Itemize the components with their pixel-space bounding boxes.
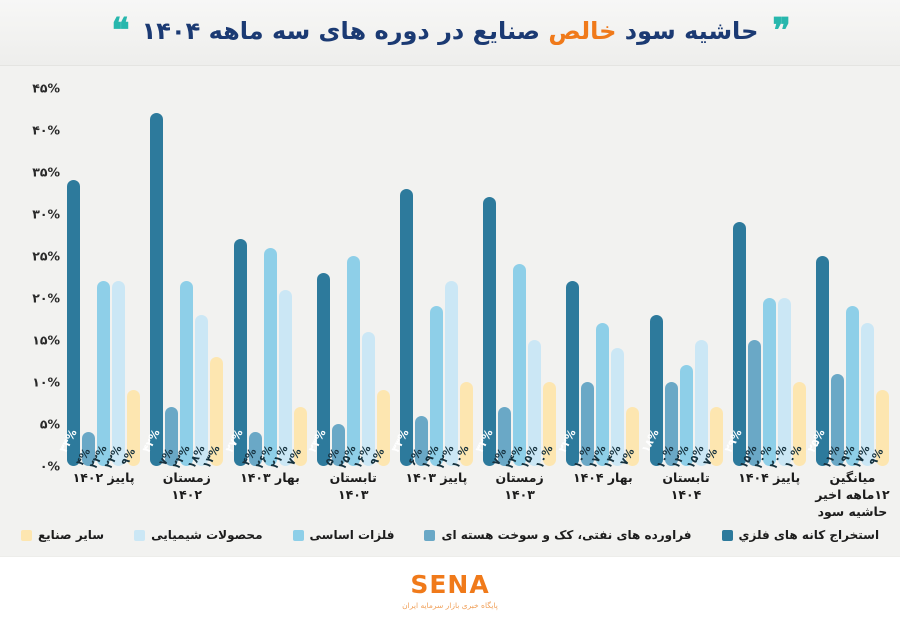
x-axis-label: پاییز ۱۴۰۳: [395, 470, 478, 516]
bar[interactable]: ۴۲%: [150, 113, 163, 466]
bar[interactable]: ۲۹%: [733, 222, 746, 466]
legend-swatch-icon: [424, 530, 435, 541]
x-axis-label: پاییز ۱۴۰۴: [728, 470, 811, 516]
quote-close-icon: ❝: [111, 14, 127, 48]
y-axis: ۴۵%۴۰%۳۵%۳۰%۲۵%۲۰%۱۵%۱۰%۵%۰%: [14, 88, 60, 466]
bar[interactable]: ۳۲%: [483, 197, 496, 466]
bar[interactable]: ۱۶%: [362, 332, 375, 466]
bar[interactable]: ۶%: [415, 416, 428, 466]
sena-logo: SENA: [410, 570, 489, 599]
bar[interactable]: ۱۸%: [195, 315, 208, 466]
legend-item[interactable]: فراورده های نفتی، کک و سوخت هسته ای: [424, 528, 691, 542]
bar[interactable]: ۱۵%: [528, 340, 541, 466]
legend-label: فراورده های نفتی، کک و سوخت هسته ای: [441, 528, 691, 542]
legend-item[interactable]: سایر صنایع: [21, 528, 104, 542]
page-title: حاشیه سود خالص صنایع در دوره های سه ماهه…: [142, 17, 759, 45]
bar[interactable]: ۲۲%: [180, 281, 193, 466]
bar[interactable]: ۲۲%: [445, 281, 458, 466]
bar[interactable]: ۳۴%: [67, 180, 80, 466]
x-axis-label: تابستان ۱۴۰۴: [644, 470, 727, 516]
legend-swatch-icon: [293, 530, 304, 541]
bar[interactable]: ۷%: [626, 407, 639, 466]
y-axis-tick: ۱۰%: [32, 375, 60, 390]
chart-legend: سایر صنایعمحصولات شیمیاییفلزات اساسیفراو…: [0, 522, 900, 548]
bar[interactable]: ۱۷%: [861, 323, 874, 466]
bar[interactable]: ۹%: [876, 390, 889, 466]
bar[interactable]: ۱۰%: [793, 382, 806, 466]
title-highlight: خالص: [548, 17, 616, 45]
y-axis-tick: ۳۵%: [32, 165, 60, 180]
header-banner: ❞ حاشیه سود خالص صنایع در دوره های سه ما…: [0, 0, 900, 66]
bar[interactable]: ۴%: [249, 432, 262, 466]
bar[interactable]: ۱۰%: [665, 382, 678, 466]
bar-group: ۳۲%۷%۲۴%۱۵%۱۰%: [478, 88, 561, 466]
x-axis-label: بهار ۱۴۰۳: [228, 470, 311, 516]
legend-item[interactable]: استخراج کانه های فلزي: [722, 528, 880, 542]
chart-plot-area: ۴۵%۴۰%۳۵%۳۰%۲۵%۲۰%۱۵%۱۰%۵%۰% ۳۴%۴%۲۲%۲۲%…: [0, 66, 900, 466]
footer-branding: SENA پایگاه خبری بازار سرمایه ایران: [0, 556, 900, 623]
legend-swatch-icon: [21, 530, 32, 541]
bar[interactable]: ۲۲%: [112, 281, 125, 466]
legend-label: سایر صنایع: [38, 528, 104, 542]
x-axis-label: بهار ۱۴۰۴: [561, 470, 644, 516]
bar[interactable]: ۱۴%: [611, 348, 624, 466]
x-axis-label: پاییز ۱۴۰۲: [62, 470, 145, 516]
bar[interactable]: ۱۹%: [430, 306, 443, 466]
bar[interactable]: ۹%: [377, 390, 390, 466]
bar[interactable]: ۲۰%: [763, 298, 776, 466]
title-part-after: صنایع در دوره های سه ماهه ۱۴۰۴: [142, 17, 549, 45]
legend-label: محصولات شیمیایی: [151, 528, 262, 542]
legend-item[interactable]: فلزات اساسی: [293, 528, 395, 542]
legend-item[interactable]: محصولات شیمیایی: [134, 528, 262, 542]
bar[interactable]: ۱۷%: [596, 323, 609, 466]
bar[interactable]: ۲۷%: [234, 239, 247, 466]
bar[interactable]: ۱۹%: [846, 306, 859, 466]
bar[interactable]: ۱۰%: [543, 382, 556, 466]
bar[interactable]: ۷%: [165, 407, 178, 466]
y-axis-tick: ۳۰%: [32, 207, 60, 222]
bar-group: ۲۷%۴%۲۶%۲۱%۷%: [228, 88, 311, 466]
y-axis-tick: ۰%: [40, 459, 60, 474]
bar[interactable]: ۳۳%: [400, 189, 413, 466]
y-axis-tick: ۲۰%: [32, 291, 60, 306]
bar[interactable]: ۵%: [332, 424, 345, 466]
x-axis-label: میانگین ۱۲ماهه اخیر حاشیه سود: [811, 470, 894, 516]
bar[interactable]: ۱۳%: [210, 357, 223, 466]
x-axis: پاییز ۱۴۰۲زمستان ۱۴۰۲بهار ۱۴۰۳تابستان ۱۴…: [62, 470, 894, 516]
bar-group: ۲۲%۱۰%۱۷%۱۴%۷%: [561, 88, 644, 466]
quote-open-icon: ❞: [772, 14, 788, 48]
bar[interactable]: ۹%: [127, 390, 140, 466]
bar[interactable]: ۱۰%: [581, 382, 594, 466]
bar[interactable]: ۲۵%: [347, 256, 360, 466]
y-axis-tick: ۴۵%: [32, 81, 60, 96]
bar[interactable]: ۱۵%: [748, 340, 761, 466]
title-part-before: حاشیه سود: [616, 17, 758, 45]
bar[interactable]: ۱۸%: [650, 315, 663, 466]
legend-swatch-icon: [134, 530, 145, 541]
bar[interactable]: ۲۲%: [566, 281, 579, 466]
bar-group: ۲۳%۵%۲۵%۱۶%۹%: [312, 88, 395, 466]
bar[interactable]: ۲۴%: [513, 264, 526, 466]
x-axis-label: زمستان ۱۴۰۲: [145, 470, 228, 516]
bar[interactable]: ۱۱%: [831, 374, 844, 466]
bar-group: ۳۴%۴%۲۲%۲۲%۹%: [62, 88, 145, 466]
bar-group: ۳۳%۶%۱۹%۲۲%۱۰%: [395, 88, 478, 466]
bar[interactable]: ۷%: [710, 407, 723, 466]
bar[interactable]: ۴%: [82, 432, 95, 466]
bar[interactable]: ۲۶%: [264, 248, 277, 466]
bar[interactable]: ۱۲%: [680, 365, 693, 466]
legend-swatch-icon: [722, 530, 733, 541]
bar[interactable]: ۲۵%: [816, 256, 829, 466]
legend-label: استخراج کانه های فلزي: [739, 528, 880, 542]
sena-tagline: پایگاه خبری بازار سرمایه ایران: [402, 601, 498, 610]
bar-group: ۲۹%۱۵%۲۰%۲۰%۱۰%: [728, 88, 811, 466]
bar[interactable]: ۲۱%: [279, 290, 292, 466]
bar-groups: ۳۴%۴%۲۲%۲۲%۹%۴۲%۷%۲۲%۱۸%۱۳%۲۷%۴%۲۶%۲۱%۷%…: [62, 88, 894, 466]
bar[interactable]: ۱۰%: [460, 382, 473, 466]
header-title-row: ❞ حاشیه سود خالص صنایع در دوره های سه ما…: [111, 14, 788, 48]
y-axis-tick: ۵%: [40, 417, 60, 432]
bar-group: ۱۸%۱۰%۱۲%۱۵%۷%: [644, 88, 727, 466]
y-axis-tick: ۴۰%: [32, 123, 60, 138]
y-axis-tick: ۱۵%: [32, 333, 60, 348]
bar[interactable]: ۷%: [294, 407, 307, 466]
bar[interactable]: ۲۲%: [97, 281, 110, 466]
bar[interactable]: ۱۵%: [695, 340, 708, 466]
bar-group: ۲۵%۱۱%۱۹%۱۷%۹%: [811, 88, 894, 466]
legend-label: فلزات اساسی: [310, 528, 395, 542]
x-axis-label: زمستان ۱۴۰۳: [478, 470, 561, 516]
bar[interactable]: ۲۰%: [778, 298, 791, 466]
bar[interactable]: ۲۳%: [317, 273, 330, 466]
x-axis-label: تابستان ۱۴۰۳: [312, 470, 395, 516]
bar-group: ۴۲%۷%۲۲%۱۸%۱۳%: [145, 88, 228, 466]
y-axis-tick: ۲۵%: [32, 249, 60, 264]
bar[interactable]: ۷%: [498, 407, 511, 466]
